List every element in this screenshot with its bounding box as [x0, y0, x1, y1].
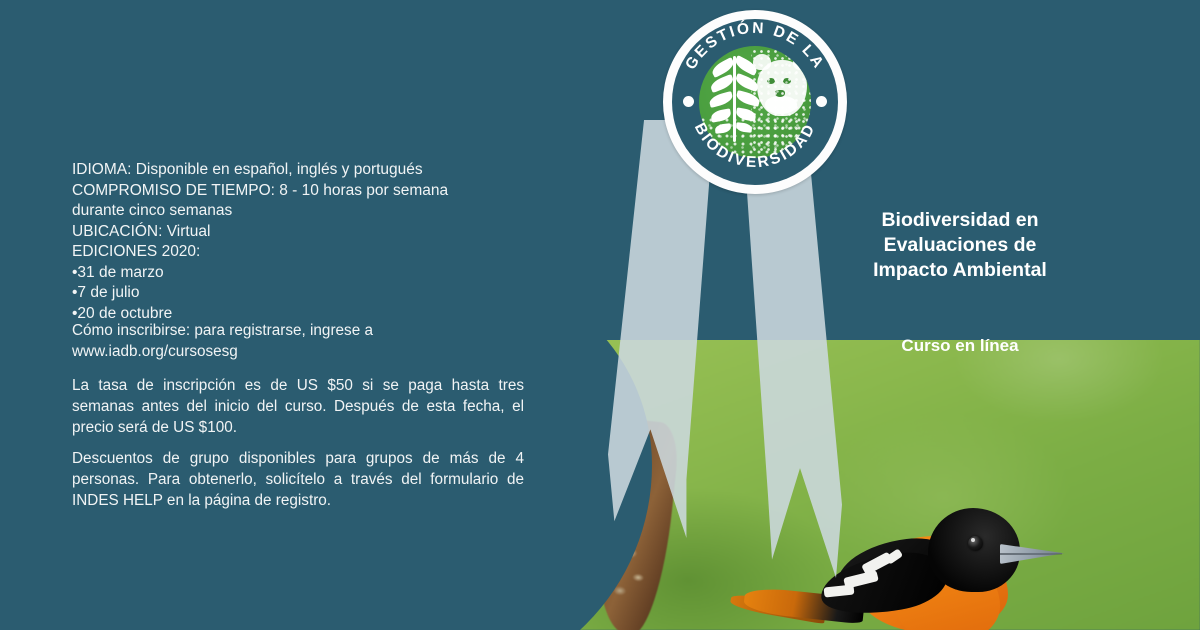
registration-line: Cómo inscribirse: para registrarse, ingr…: [72, 320, 524, 341]
detail-line-edition: •31 de marzo: [72, 263, 542, 284]
bird-eye-glint: [971, 538, 975, 542]
badge-dot-left-icon: [683, 96, 694, 107]
fern-stem: [733, 56, 736, 142]
course-title-line-3: Impacto Ambiental: [840, 258, 1080, 283]
detail-line: COMPROMISO DE TIEMPO: 8 - 10 horas por s…: [72, 181, 542, 202]
biodiversity-badge: GESTIÓN DE LA BIODIVERSIDAD: [663, 10, 847, 194]
jaguar-spot-texture: [751, 48, 811, 152]
detail-line: EDICIONES 2020:: [72, 242, 542, 263]
badge-dot-right-icon: [816, 96, 827, 107]
course-title-line-1: Biodiversidad en: [840, 208, 1080, 233]
course-title: Biodiversidad en Evaluaciones de Impacto…: [840, 208, 1080, 283]
registration-instructions: Cómo inscribirse: para registrarse, ingr…: [72, 320, 524, 362]
course-details-block: IDIOMA: Disponible en español, inglés y …: [72, 160, 542, 324]
badge-green-disc: [699, 46, 811, 158]
detail-line: IDIOMA: Disponible en español, inglés y …: [72, 160, 542, 181]
jaguar-face-icon: [751, 48, 811, 152]
course-title-line-2: Evaluaciones de: [840, 233, 1080, 258]
course-flyer: GESTIÓN DE LA BIODIVERSIDAD IDIOMA: Disp…: [0, 0, 1200, 630]
baltimore-oriole-bird: [800, 500, 1130, 630]
registration-url[interactable]: www.iadb.org/cursosesg: [72, 341, 524, 362]
course-mode-label: Curso en línea: [840, 336, 1080, 356]
detail-line-edition: •7 de julio: [72, 283, 542, 304]
detail-line: durante cinco semanas: [72, 201, 542, 222]
fee-paragraph: La tasa de inscripción es de US $50 si s…: [72, 375, 524, 438]
detail-line: UBICACIÓN: Virtual: [72, 222, 542, 243]
group-discount-paragraph: Descuentos de grupo disponibles para gru…: [72, 448, 524, 511]
